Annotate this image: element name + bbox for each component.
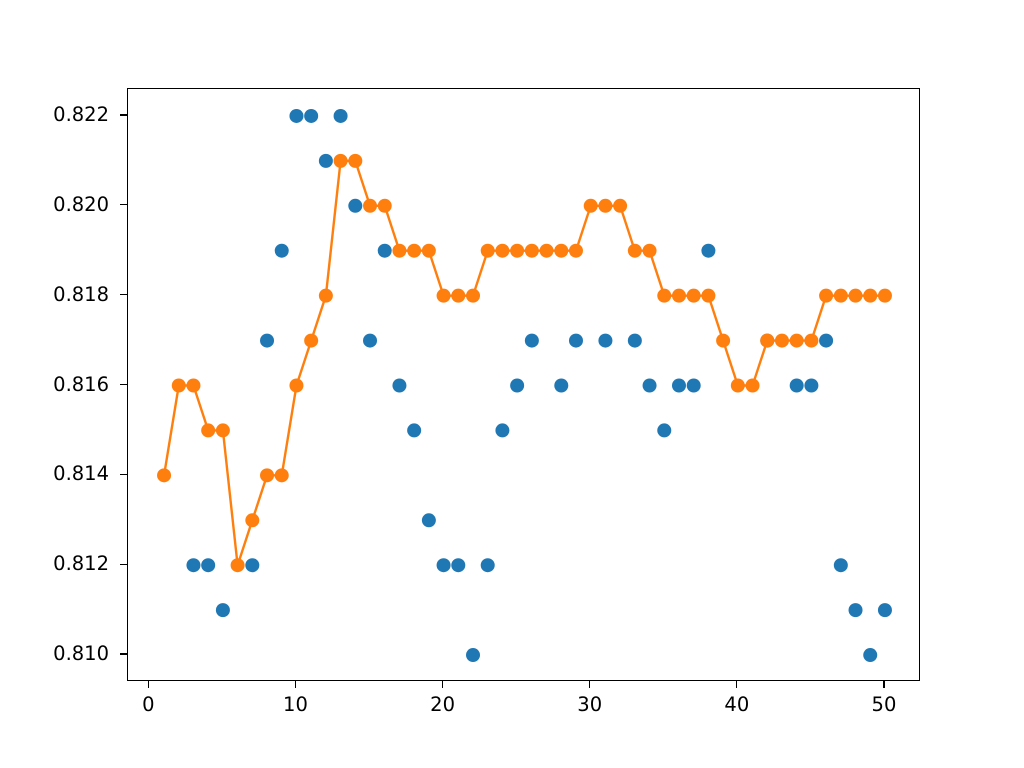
x-tick-label: 40 bbox=[697, 695, 777, 715]
data-point bbox=[201, 558, 215, 572]
data-point bbox=[451, 289, 465, 303]
x-tick-mark bbox=[442, 681, 443, 688]
data-point bbox=[834, 289, 848, 303]
data-point bbox=[790, 334, 804, 348]
y-tick-mark bbox=[120, 384, 127, 385]
x-tick-label: 50 bbox=[844, 695, 924, 715]
data-point bbox=[319, 289, 333, 303]
data-point bbox=[275, 244, 289, 258]
y-tick-label: 0.820 bbox=[0, 195, 109, 215]
data-point bbox=[569, 244, 583, 258]
data-point bbox=[643, 244, 657, 258]
y-tick-label: 0.814 bbox=[0, 464, 109, 484]
data-point bbox=[525, 334, 539, 348]
data-point bbox=[510, 379, 524, 393]
data-point bbox=[378, 244, 392, 258]
data-point bbox=[849, 289, 863, 303]
data-point bbox=[569, 334, 583, 348]
x-tick-mark bbox=[148, 681, 149, 688]
data-point bbox=[863, 289, 877, 303]
data-point bbox=[687, 379, 701, 393]
data-point bbox=[790, 379, 804, 393]
y-tick-label: 0.822 bbox=[0, 105, 109, 125]
x-tick-label: 0 bbox=[108, 695, 188, 715]
series-group-series-2 bbox=[157, 154, 892, 572]
data-point bbox=[731, 379, 745, 393]
data-point bbox=[186, 379, 200, 393]
data-point bbox=[613, 199, 627, 213]
y-tick-label: 0.812 bbox=[0, 554, 109, 574]
data-point bbox=[746, 379, 760, 393]
y-tick-label: 0.816 bbox=[0, 375, 109, 395]
y-tick-label: 0.818 bbox=[0, 285, 109, 305]
data-point bbox=[584, 199, 598, 213]
data-point bbox=[540, 244, 554, 258]
data-point bbox=[510, 244, 524, 258]
data-point bbox=[819, 289, 833, 303]
data-point bbox=[363, 199, 377, 213]
data-point bbox=[495, 244, 509, 258]
data-point bbox=[804, 379, 818, 393]
y-tick-mark bbox=[120, 204, 127, 205]
data-point bbox=[849, 603, 863, 617]
plot-canvas bbox=[128, 89, 921, 682]
data-point bbox=[407, 244, 421, 258]
data-point bbox=[628, 244, 642, 258]
data-point bbox=[437, 558, 451, 572]
x-tick-label: 20 bbox=[403, 695, 483, 715]
data-point bbox=[172, 379, 186, 393]
data-point bbox=[878, 603, 892, 617]
data-point bbox=[804, 334, 818, 348]
data-point bbox=[260, 334, 274, 348]
data-point bbox=[304, 334, 318, 348]
data-point bbox=[407, 423, 421, 437]
data-point bbox=[245, 513, 259, 527]
data-point bbox=[819, 334, 833, 348]
data-point bbox=[672, 379, 686, 393]
data-point bbox=[334, 109, 348, 123]
y-tick-mark bbox=[120, 474, 127, 475]
data-point bbox=[657, 289, 671, 303]
data-point bbox=[687, 289, 701, 303]
data-point bbox=[186, 558, 200, 572]
y-tick-mark bbox=[120, 114, 127, 115]
data-point bbox=[319, 154, 333, 168]
y-tick-mark bbox=[120, 653, 127, 654]
x-tick-mark bbox=[736, 681, 737, 688]
x-tick-mark bbox=[589, 681, 590, 688]
data-point bbox=[760, 334, 774, 348]
series-line-series-2 bbox=[164, 161, 885, 565]
data-point bbox=[245, 558, 259, 572]
x-tick-label: 30 bbox=[550, 695, 630, 715]
data-point bbox=[525, 244, 539, 258]
data-point bbox=[643, 379, 657, 393]
data-point bbox=[775, 334, 789, 348]
data-point bbox=[392, 379, 406, 393]
data-point bbox=[481, 244, 495, 258]
data-point bbox=[363, 334, 377, 348]
data-point bbox=[260, 468, 274, 482]
data-point bbox=[422, 513, 436, 527]
y-tick-mark bbox=[120, 294, 127, 295]
data-point bbox=[437, 289, 451, 303]
data-point bbox=[289, 109, 303, 123]
x-tick-mark bbox=[295, 681, 296, 688]
plot-axes bbox=[127, 88, 920, 681]
data-point bbox=[598, 334, 612, 348]
data-point bbox=[216, 423, 230, 437]
data-point bbox=[201, 423, 215, 437]
data-point bbox=[157, 468, 171, 482]
data-point bbox=[466, 289, 480, 303]
data-point bbox=[231, 558, 245, 572]
x-tick-label: 10 bbox=[255, 695, 335, 715]
data-point bbox=[334, 154, 348, 168]
y-tick-mark bbox=[120, 564, 127, 565]
data-point bbox=[481, 558, 495, 572]
data-point bbox=[701, 244, 715, 258]
x-tick-mark bbox=[883, 681, 884, 688]
data-point bbox=[348, 199, 362, 213]
data-point bbox=[422, 244, 436, 258]
data-point bbox=[863, 648, 877, 662]
data-point bbox=[216, 603, 230, 617]
data-point bbox=[628, 334, 642, 348]
data-point bbox=[657, 423, 671, 437]
data-point bbox=[275, 468, 289, 482]
data-point bbox=[554, 379, 568, 393]
data-point bbox=[466, 648, 480, 662]
data-point bbox=[495, 423, 509, 437]
data-point bbox=[378, 199, 392, 213]
data-point bbox=[716, 334, 730, 348]
data-point bbox=[878, 289, 892, 303]
matplotlib-figure: 0.8100.8120.8140.8160.8180.8200.822 0102… bbox=[0, 0, 1024, 768]
data-point bbox=[304, 109, 318, 123]
y-tick-label: 0.810 bbox=[0, 644, 109, 664]
data-point bbox=[348, 154, 362, 168]
data-point bbox=[834, 558, 848, 572]
data-point bbox=[392, 244, 406, 258]
data-point bbox=[672, 289, 686, 303]
data-point bbox=[451, 558, 465, 572]
data-point bbox=[598, 199, 612, 213]
data-point bbox=[554, 244, 568, 258]
data-point bbox=[289, 379, 303, 393]
data-point bbox=[701, 289, 715, 303]
